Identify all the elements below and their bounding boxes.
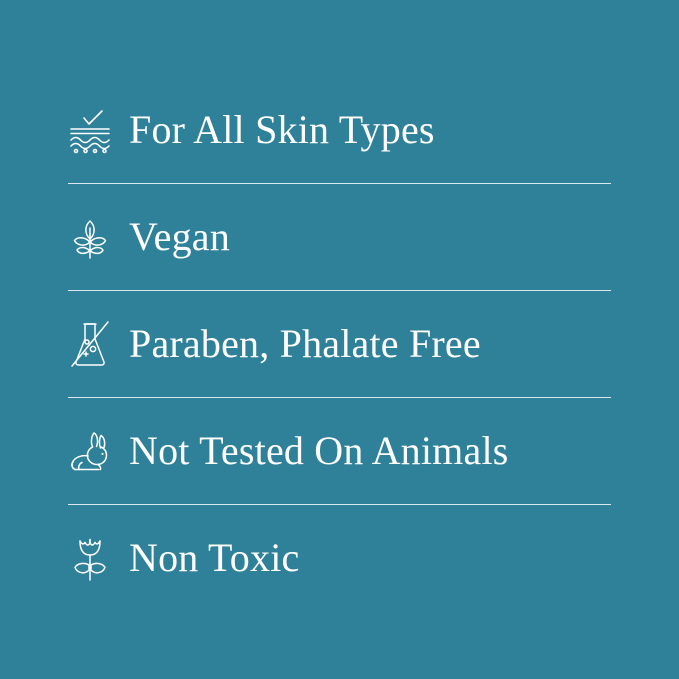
spacer bbox=[68, 485, 611, 504]
divider bbox=[68, 504, 611, 505]
rabbit-icon bbox=[68, 427, 112, 475]
feature-row: For All Skin Types bbox=[68, 96, 611, 164]
feature-label: Paraben, Phalate Free bbox=[129, 323, 481, 365]
spacer bbox=[68, 398, 611, 417]
feature-row: Paraben, Phalate Free bbox=[68, 310, 611, 378]
feature-label: Non Toxic bbox=[129, 537, 299, 579]
divider bbox=[68, 397, 611, 398]
spacer bbox=[68, 291, 611, 310]
spacer bbox=[68, 505, 611, 524]
feature-row: Non Toxic bbox=[68, 524, 611, 592]
leaf-sprout-icon bbox=[68, 213, 112, 261]
feature-label: Not Tested On Animals bbox=[129, 430, 509, 472]
product-benefits-panel: For All Skin Types Vegan bbox=[0, 0, 679, 679]
feature-label: Vegan bbox=[129, 216, 230, 258]
spacer bbox=[68, 184, 611, 203]
flask-no-chemicals-icon bbox=[68, 320, 112, 368]
tulip-flower-icon bbox=[68, 534, 112, 582]
spacer bbox=[68, 271, 611, 290]
skin-waves-check-icon bbox=[68, 106, 112, 154]
divider bbox=[68, 183, 611, 184]
feature-row: Not Tested On Animals bbox=[68, 417, 611, 485]
feature-label: For All Skin Types bbox=[129, 109, 435, 151]
feature-row: Vegan bbox=[68, 203, 611, 271]
spacer bbox=[68, 164, 611, 183]
spacer bbox=[68, 378, 611, 397]
divider bbox=[68, 290, 611, 291]
feature-list: For All Skin Types Vegan bbox=[68, 96, 611, 592]
